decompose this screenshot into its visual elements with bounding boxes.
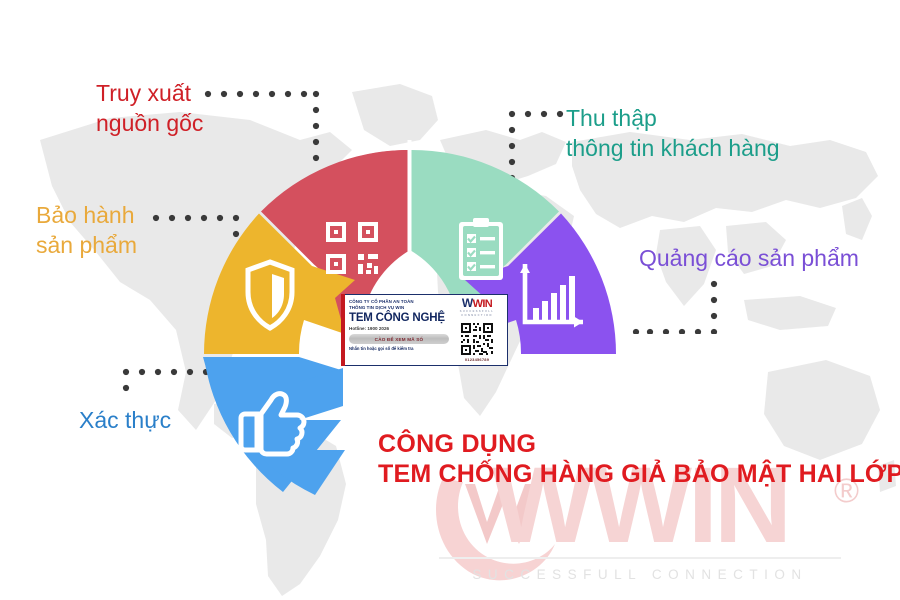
- callout-line1: Thu thập: [566, 103, 780, 133]
- sticker-note: Nhắn tin hoặc gọi số để kiểm tra: [349, 346, 449, 351]
- page-title-line1: CÔNG DỤNG: [378, 430, 900, 459]
- win-logo-tagline: SUCCESSFULL CONNECTION: [451, 310, 503, 318]
- qr-code[interactable]: [460, 322, 494, 356]
- callout-quang-cao-san-pham: Quảng cáo sản phẩm: [639, 243, 859, 273]
- checklist-icon: [459, 218, 503, 280]
- sticker-title: TEM CÔNG NGHỆ: [349, 312, 449, 325]
- callout-bao-hanh-san-pham: Bảo hành sản phẩm: [36, 200, 137, 260]
- win-logo-mark: W: [462, 296, 473, 310]
- callout-line1: Truy xuất: [96, 78, 203, 108]
- sticker-right-panel: WWIN SUCCESSFULL CONNECTION: [451, 295, 507, 365]
- page-title-line2: TEM CHỐNG HÀNG GIẢ BẢO MẬT HAI LỚP: [378, 459, 900, 490]
- page-title: CÔNG DỤNG TEM CHỐNG HÀNG GIẢ BẢO MẬT HAI…: [378, 430, 900, 490]
- win-logo-text: WIN: [473, 298, 493, 310]
- sticker-serial: 0123456789: [451, 357, 503, 362]
- callout-line1: Bảo hành: [36, 200, 137, 230]
- watermark-tagline: SUCCESSFULL CONNECTION: [425, 567, 855, 582]
- callout-truy-xuat-nguon-goc: Truy xuất nguồn gốc: [96, 78, 203, 138]
- win-logo: WWIN SUCCESSFULL CONNECTION: [451, 298, 503, 318]
- callout-line1: Quảng cáo sản phẩm: [639, 243, 859, 273]
- scratch-off-label: CÀO ĐỂ XEM MÃ SỐ: [375, 337, 424, 342]
- sticker-company-line2: THÔNG TIN DỊCH VỤ WIN: [349, 305, 449, 311]
- callout-line2: thông tin khách hàng: [566, 133, 780, 163]
- callout-thu-thap-thong-tin-khach-hang: Thu thập thông tin khách hàng: [566, 103, 780, 163]
- wheel-segment-xac-thuc: [203, 357, 345, 495]
- scratch-off-panel[interactable]: CÀO ĐỂ XEM MÃ SỐ: [349, 334, 449, 344]
- sticker-accent-edge: [341, 294, 345, 366]
- sticker-hotline: Hotline: 1900 2026: [349, 326, 449, 332]
- callout-line2: nguồn gốc: [96, 108, 203, 138]
- security-label-card: CÔNG TY CỔ PHẦN AN TOÀN THÔNG TIN DỊCH V…: [341, 294, 508, 366]
- callout-line2: sản phẩm: [36, 230, 137, 260]
- sticker-left-panel: CÔNG TY CỔ PHẦN AN TOÀN THÔNG TIN DỊCH V…: [342, 295, 451, 365]
- connector-dots-quang-cao: [632, 278, 720, 334]
- callout-xac-thuc: Xác thực: [79, 405, 171, 435]
- infographic-canvas: WWIN ® SUCCESSFULL CONNECTION: [0, 0, 900, 600]
- callout-line1: Xác thực: [79, 405, 171, 435]
